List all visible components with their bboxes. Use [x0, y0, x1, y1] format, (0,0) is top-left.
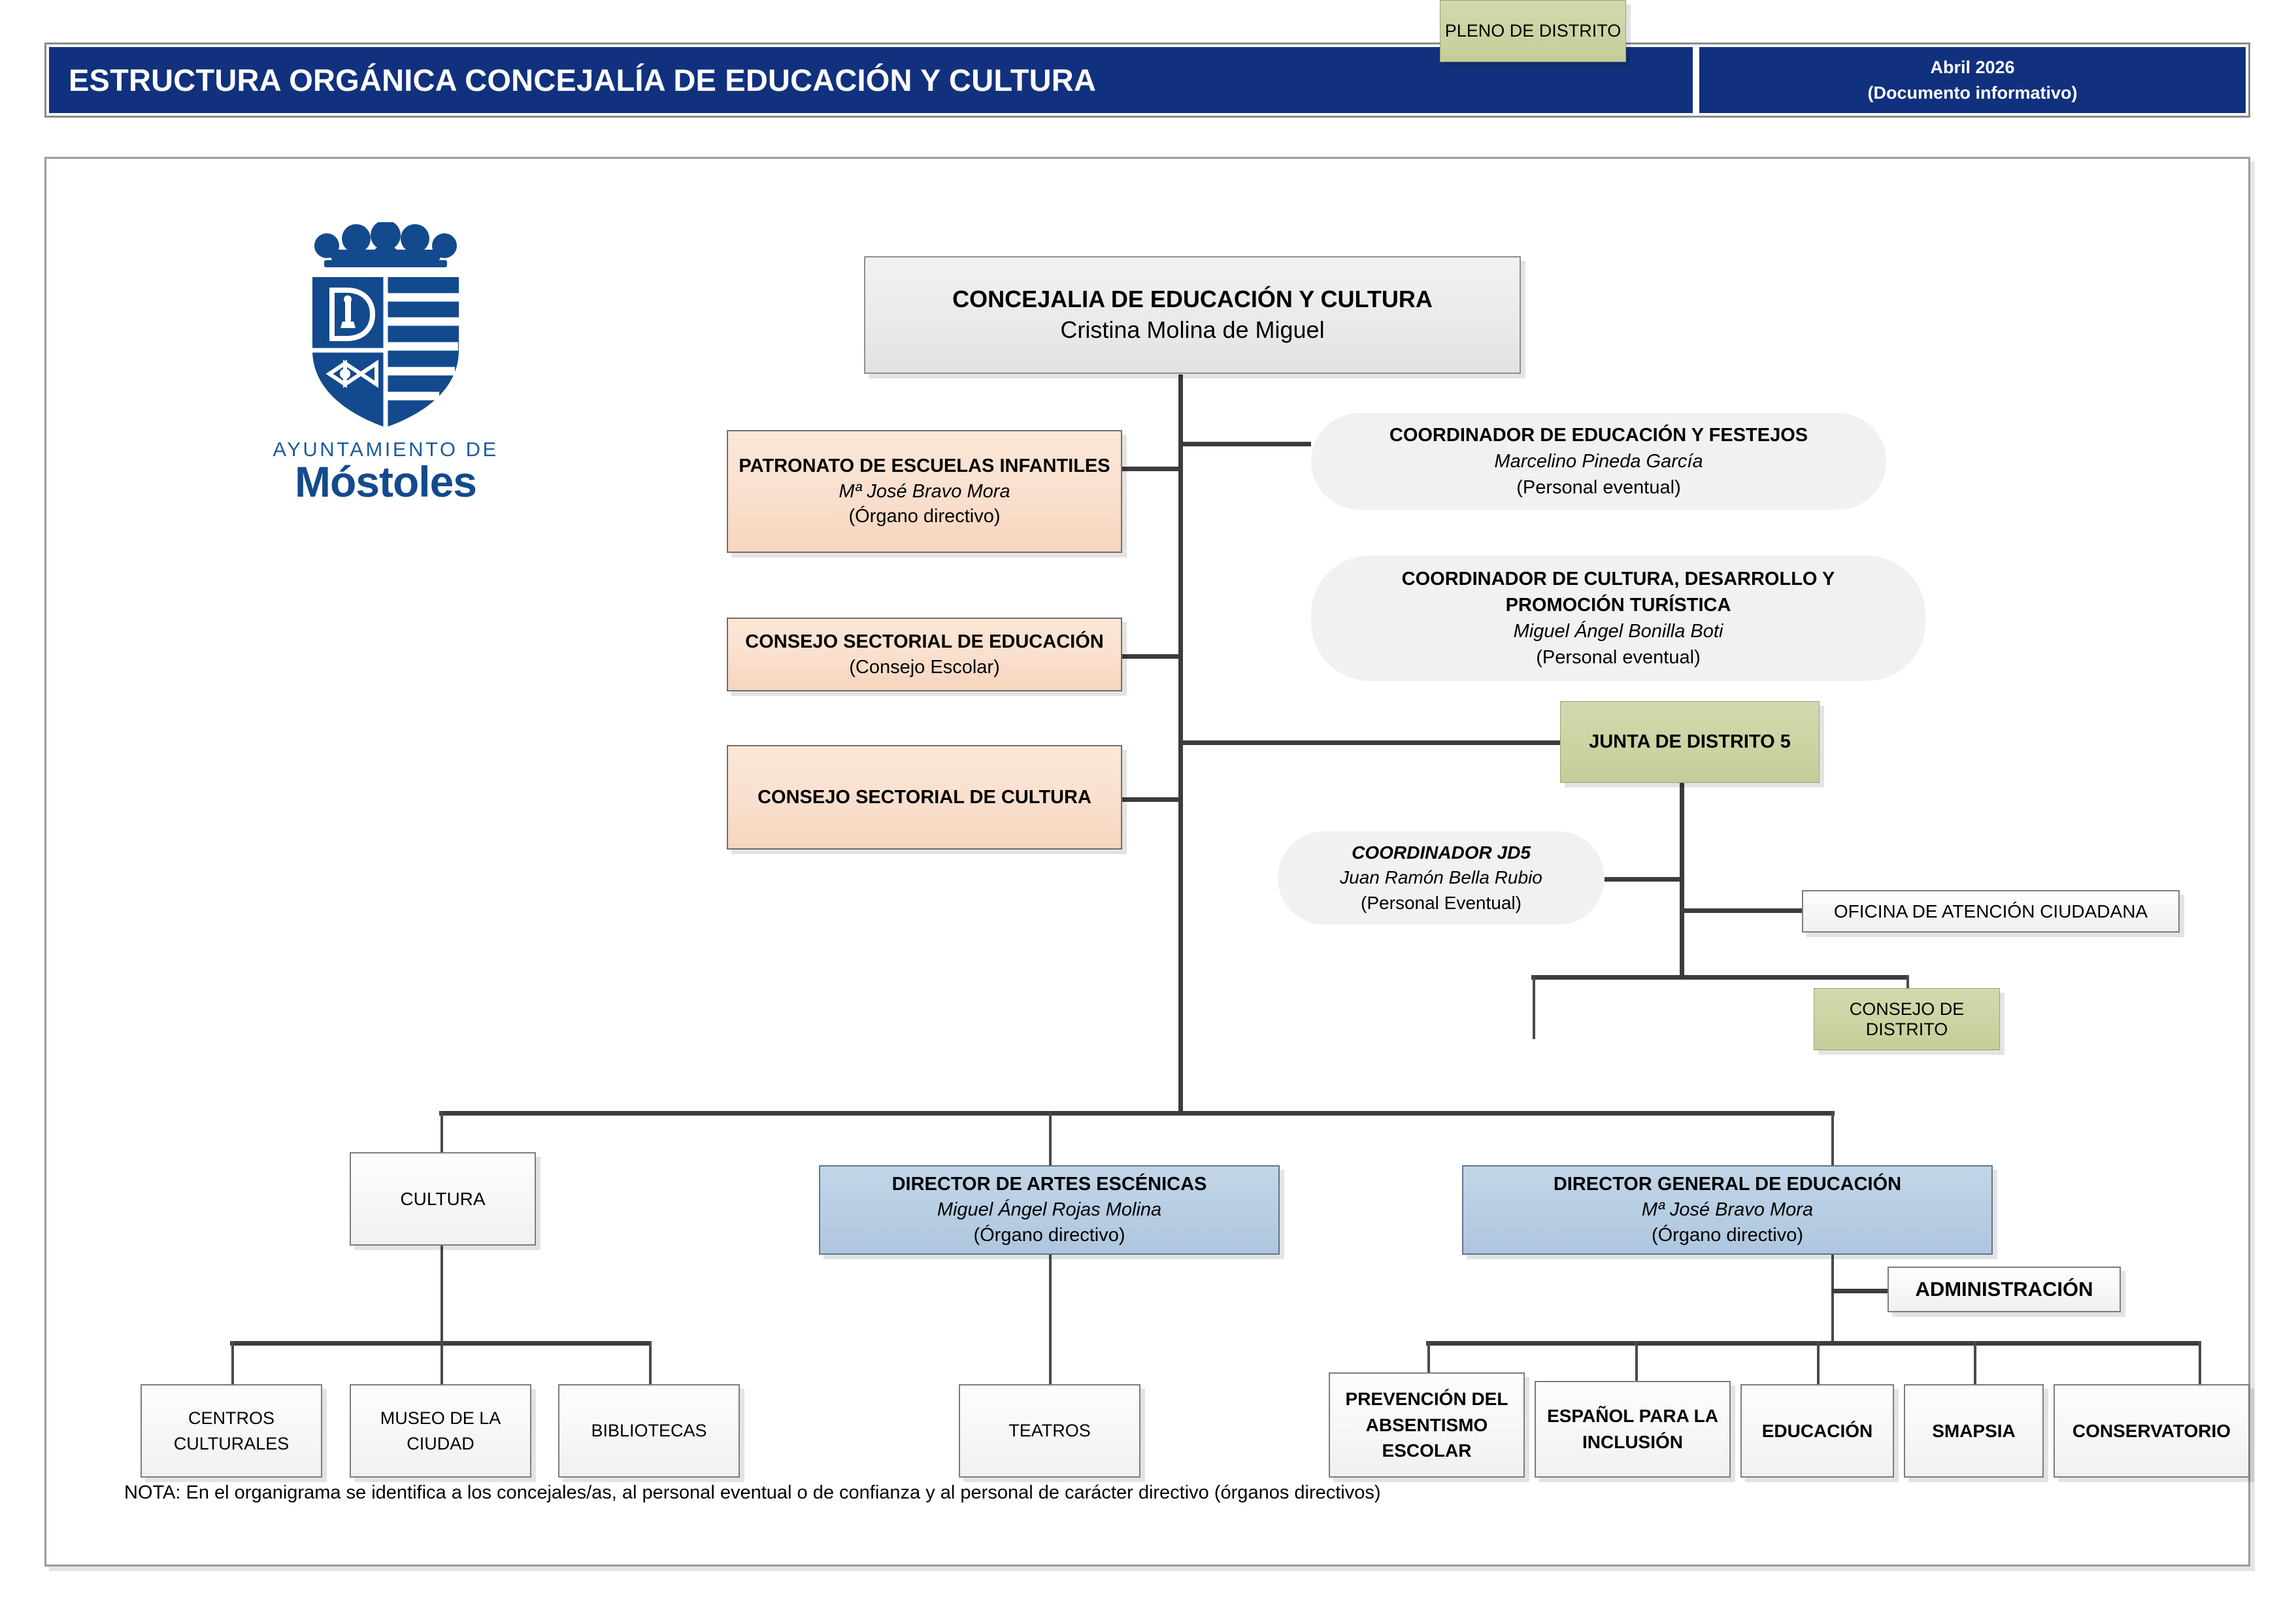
node-role: (Personal Eventual) — [1361, 891, 1522, 916]
node-title: BIBLIOTECAS — [591, 1418, 707, 1443]
node-patronato-escuelas-infantiles[interactable]: PATRONATO DE ESCUELAS INFANTILES Mª José… — [727, 430, 1122, 553]
node-espanol-para-la-inclusion[interactable]: ESPAÑOL PARA LA INCLUSIÓN — [1535, 1381, 1731, 1478]
node-title: PREVENCIÓN DEL ABSENTISMO ESCOLAR — [1330, 1386, 1523, 1464]
node-role: (Órgano directivo) — [848, 504, 1000, 529]
header-date: Abril 2026 — [1930, 55, 2014, 80]
node-title: COORDINADOR JD5 — [1352, 840, 1531, 865]
node-title: CONSEJO SECTORIAL DE EDUCACIÓN — [745, 629, 1103, 655]
connector-educacion-leaf — [1817, 1341, 1820, 1384]
node-bibliotecas[interactable]: BIBLIOTECAS — [558, 1384, 740, 1478]
node-title: ADMINISTRACIÓN — [1915, 1278, 2093, 1301]
node-title: TEATROS — [1008, 1421, 1091, 1441]
node-title: CONCEJALIA DE EDUCACIÓN Y CULTURA — [952, 284, 1433, 315]
connector-pleno-distrito — [1533, 975, 1535, 1039]
node-title: CONSEJO DE DISTRITO — [1814, 999, 1999, 1040]
node-title: PATRONATO DE ESCUELAS INFANTILES — [739, 454, 1110, 479]
connector-junta-distrito — [1178, 740, 1560, 745]
node-administracion[interactable]: ADMINISTRACIÓN — [1888, 1267, 2121, 1312]
connector-artes-drop — [1049, 1111, 1052, 1165]
connector-espanol-inclusion — [1635, 1341, 1638, 1384]
connector-patronato — [1120, 467, 1180, 471]
node-person: Miguel Ángel Rojas Molina — [937, 1197, 1161, 1223]
connector-educacion-drop — [1831, 1111, 1834, 1165]
node-title: CENTROS CULTURALES — [142, 1406, 321, 1456]
node-role: (Órgano directivo) — [1652, 1223, 1803, 1248]
node-prevencion-absentismo-escolar[interactable]: PREVENCIÓN DEL ABSENTISMO ESCOLAR — [1329, 1372, 1525, 1478]
connector-cultura-vertical — [441, 1245, 443, 1343]
node-title: CONSERVATORIO — [2072, 1421, 2231, 1442]
node-title: DIRECTOR DE ARTES ESCÉNICAS — [892, 1172, 1207, 1197]
connector-consejo-cultura — [1120, 797, 1180, 802]
connector-conservatorio — [2199, 1341, 2201, 1384]
mostoles-coat-of-arms-logo: AYUNTAMIENTO DE Móstoles — [261, 222, 510, 503]
header-divider — [1693, 44, 1699, 116]
node-title: JUNTA DE DISTRITO 5 — [1589, 731, 1791, 753]
node-cultura[interactable]: CULTURA — [350, 1152, 536, 1246]
node-title: PLENO DE DISTRITO — [1445, 21, 1622, 41]
node-director-artes-escenicas[interactable]: DIRECTOR DE ARTES ESCÉNICAS Miguel Ángel… — [819, 1165, 1280, 1255]
node-teatros[interactable]: TEATROS — [959, 1384, 1140, 1478]
node-oficina-atencion-ciudadana[interactable]: OFICINA DE ATENCIÓN CIUDADANA — [1802, 890, 2180, 933]
node-title: COORDINADOR DE CULTURA, DESARROLLO Y PRO… — [1353, 566, 1884, 618]
organigrama-page: ESTRUCTURA ORGÁNICA CONCEJALÍA DE EDUCAC… — [0, 0, 2296, 1624]
node-title: CULTURA — [400, 1189, 485, 1210]
node-coordinador-jd5[interactable]: COORDINADOR JD5 Juan Ramón Bella Rubio (… — [1278, 831, 1605, 925]
connector-consejo-educacion — [1120, 654, 1180, 659]
node-person: Juan Ramón Bella Rubio — [1340, 865, 1542, 890]
node-title: SMAPSIA — [1932, 1421, 2016, 1442]
node-role: (Consejo Escolar) — [849, 655, 999, 680]
node-title: DIRECTOR GENERAL DE EDUCACIÓN — [1554, 1172, 1901, 1197]
node-title: EDUCACIÓN — [1762, 1421, 1873, 1442]
node-title: OFICINA DE ATENCIÓN CIUDADANA — [1834, 901, 2148, 922]
connector-bibliotecas — [649, 1341, 652, 1384]
connector-teatros — [1049, 1255, 1052, 1384]
node-pleno-distrito[interactable]: PLENO DE DISTRITO — [1440, 0, 1626, 62]
header-date-block: Abril 2026 (Documento informativo) — [1699, 47, 2246, 113]
node-junta-distrito-5[interactable]: JUNTA DE DISTRITO 5 — [1560, 701, 1820, 783]
node-centros-culturales[interactable]: CENTROS CULTURALES — [141, 1384, 322, 1478]
node-person: Marcelino Pineda García — [1494, 448, 1703, 474]
node-consejo-sectorial-cultura[interactable]: CONSEJO SECTORIAL DE CULTURA — [727, 745, 1122, 850]
node-educacion[interactable]: EDUCACIÓN — [1740, 1384, 1894, 1478]
connector-museo-ciudad — [441, 1341, 443, 1384]
node-title: MUSEO DE LA CIUDAD — [351, 1406, 530, 1456]
node-person: Miguel Ángel Bonilla Boti — [1514, 618, 1723, 644]
node-role: (Órgano directivo) — [973, 1223, 1125, 1248]
node-person: Mª José Bravo Mora — [1642, 1197, 1813, 1223]
node-director-general-educacion[interactable]: DIRECTOR GENERAL DE EDUCACIÓN Mª José Br… — [1462, 1165, 1993, 1255]
connector-centros-culturales — [231, 1341, 234, 1384]
node-concejalia-educacion-cultura[interactable]: CONCEJALIA DE EDUCACIÓN Y CULTURA Cristi… — [864, 256, 1521, 374]
connector-oficina-atencion — [1680, 908, 1802, 913]
node-consejo-sectorial-educacion[interactable]: CONSEJO SECTORIAL DE EDUCACIÓN (Consejo … — [727, 618, 1122, 691]
node-title: ESPAÑOL PARA LA INCLUSIÓN — [1536, 1403, 1729, 1455]
page-header: ESTRUCTURA ORGÁNICA CONCEJALÍA DE EDUCAC… — [44, 42, 2250, 118]
node-consejo-distrito[interactable]: CONSEJO DE DISTRITO — [1814, 988, 2000, 1050]
node-smapsia[interactable]: SMAPSIA — [1904, 1384, 2044, 1478]
connector-administracion — [1831, 1289, 1888, 1293]
connector-coord-educacion — [1178, 442, 1311, 446]
node-role: (Personal eventual) — [1536, 644, 1700, 671]
node-role: (Personal eventual) — [1516, 474, 1680, 501]
node-person: Mª José Bravo Mora — [839, 479, 1010, 505]
connector-director-educacion-vertical — [1831, 1255, 1834, 1343]
node-museo-ciudad[interactable]: MUSEO DE LA CIUDAD — [350, 1384, 531, 1478]
connector-distrito-split — [1531, 975, 1908, 980]
node-coordinador-educacion-festejos[interactable]: COORDINADOR DE EDUCACIÓN Y FESTEJOS Marc… — [1311, 413, 1886, 510]
connector-educacion-split — [1426, 1341, 2201, 1346]
node-person: Cristina Molina de Miguel — [1060, 315, 1324, 346]
svg-text:Móstoles: Móstoles — [295, 457, 476, 503]
node-title: COORDINADOR DE EDUCACIÓN Y FESTEJOS — [1389, 422, 1808, 448]
node-conservatorio[interactable]: CONSERVATORIO — [2054, 1384, 2250, 1478]
connector-cultura-drop — [441, 1111, 443, 1152]
node-title: CONSEJO SECTORIAL DE CULTURA — [757, 785, 1091, 810]
connector-main-split — [439, 1111, 1835, 1116]
connector-coord-jd5 — [1595, 877, 1682, 882]
footer-note: NOTA: En el organigrama se identifica a … — [124, 1482, 1381, 1504]
connector-smapsia — [1974, 1341, 1976, 1384]
node-coordinador-cultura-turismo[interactable]: COORDINADOR DE CULTURA, DESARROLLO Y PRO… — [1311, 555, 1925, 681]
header-doc-type: (Documento informativo) — [1868, 80, 2078, 105]
